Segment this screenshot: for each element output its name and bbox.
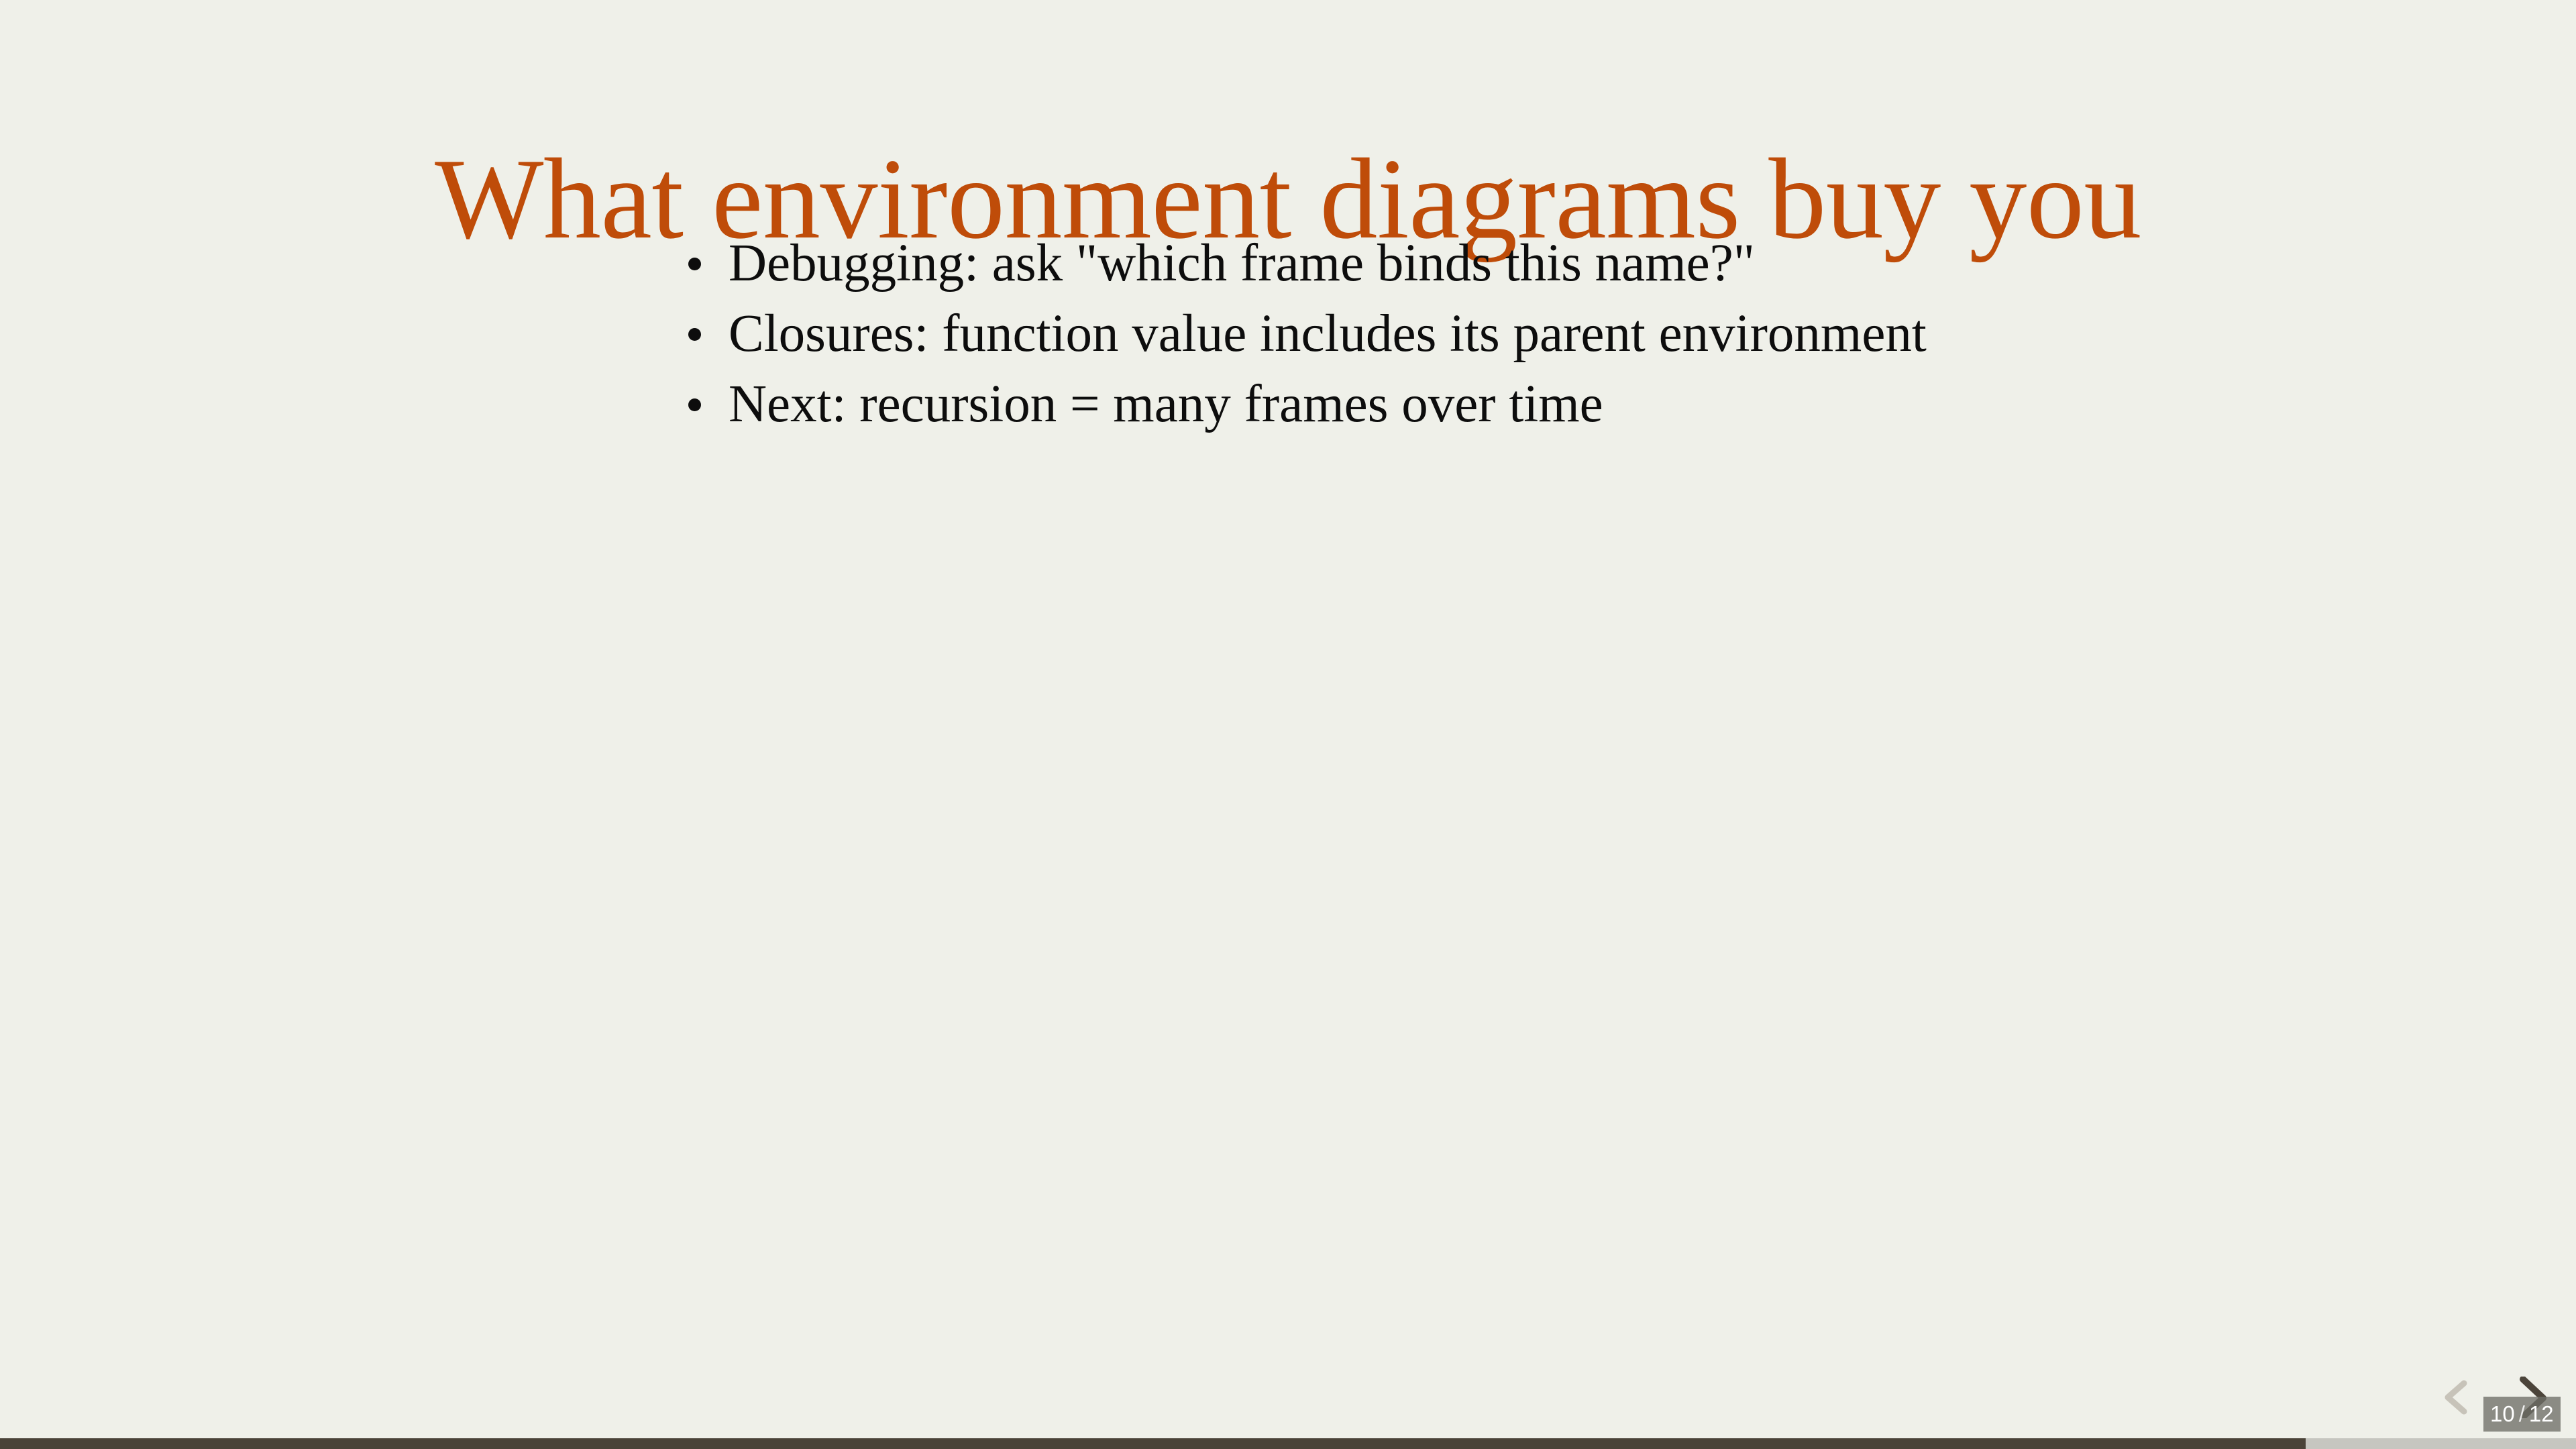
- bullet-marker-icon: [688, 398, 701, 411]
- bullet-marker-icon: [688, 258, 701, 270]
- slide-canvas: What environment diagrams buy you Debugg…: [0, 0, 2576, 1449]
- bullet-item-1: Debugging: ask "which frame binds this n…: [686, 228, 2430, 299]
- bullet-list: Debugging: ask "which frame binds this n…: [686, 228, 2430, 439]
- chevron-left-icon: [2448, 1383, 2464, 1411]
- page-indicator[interactable]: 10/12: [2483, 1397, 2561, 1432]
- slide-progress-fill: [0, 1438, 2306, 1449]
- bullet-item-1-text: Debugging: ask "which frame binds this n…: [729, 234, 1755, 292]
- bullet-item-3-text-after: many frames over time: [1100, 375, 1603, 433]
- previous-slide-button[interactable]: [2436, 1377, 2478, 1418]
- slide-body: Debugging: ask "which frame binds this n…: [686, 228, 2430, 439]
- total-page-count: 12: [2529, 1401, 2554, 1426]
- equals-sign: =: [1070, 375, 1100, 433]
- bullet-item-3-text-before: Next: recursion: [729, 375, 1070, 433]
- navigation-controls: 10/12: [2408, 1360, 2576, 1434]
- bullet-item-3: Next: recursion = many frames over time: [686, 369, 2430, 439]
- current-page-number: 10: [2490, 1401, 2515, 1426]
- slide-progress-track[interactable]: [0, 1438, 2576, 1449]
- bullet-marker-icon: [688, 328, 701, 341]
- bullet-item-2: Closures: function value includes its pa…: [686, 299, 2430, 369]
- bullet-item-2-text: Closures: function value includes its pa…: [729, 305, 1927, 363]
- page-separator: /: [2515, 1401, 2529, 1426]
